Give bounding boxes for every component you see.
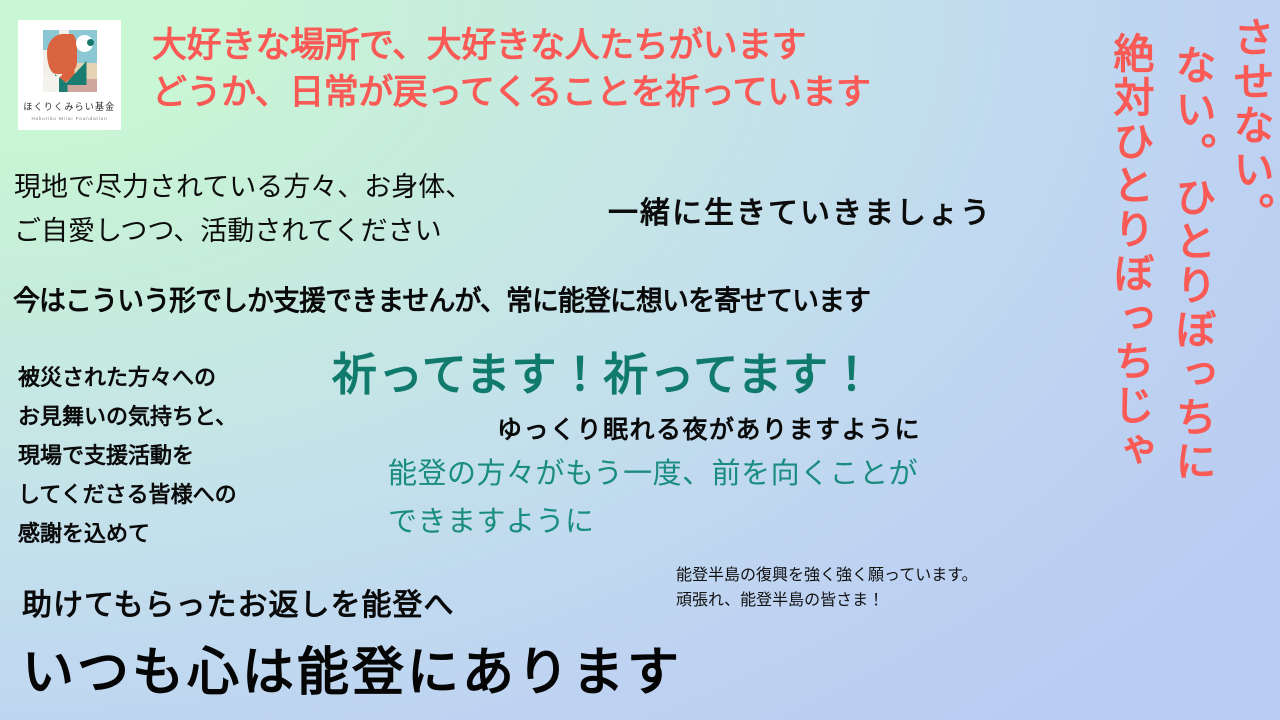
message-fukkou: 能登半島の復興を強く強く願っています。 頑張れ、能登半島の皆さま！ (676, 563, 978, 613)
vertical-column-left: させない。 (1228, 16, 1272, 236)
poster-canvas: ほくりくみらい基金 Hokuriku Mirai Foundation 大好きな… (0, 0, 1280, 720)
message-itsumo: いつも心は能登にあります (22, 630, 682, 705)
vertical-column-right: 絶対ひとりぼっちじゃ (1108, 32, 1152, 472)
message-hisai: 被災された方々への お見舞いの気持ちと、 現場で支援活動を してくださる皆様への… (18, 358, 237, 553)
message-yukkuri: ゆっくり眠れる夜がありますように (497, 410, 921, 446)
logo-name-en: Hokuriku Mirai Foundation (31, 116, 107, 121)
vertical-column-middle: ない。ひとりぼっちに (1170, 44, 1214, 484)
logo-artwork-icon (43, 30, 97, 92)
foundation-logo: ほくりくみらい基金 Hokuriku Mirai Foundation (18, 20, 121, 130)
message-ima: 今はこういう形でしか支援できませんが、常に能登に想いを寄せています (13, 279, 870, 319)
message-inotte: 祈ってます！祈ってます！ (332, 338, 875, 403)
message-tasukete: 助けてもらったお返しを能登へ (22, 580, 455, 624)
logo-name-ja: ほくりくみらい基金 (24, 99, 116, 113)
message-issho: 一緒に生きていきましょう (608, 188, 992, 232)
message-genchi: 現地で尽力されている方々、お身体、 ご自愛しつつ、活動されてください (14, 165, 472, 253)
message-noto-mukau: 能登の方々がもう一度、前を向くことが できますように (388, 450, 918, 546)
headline-text: 大好きな場所で、大好きな人たちがいます どうか、日常が戻ってくることを祈っていま… (152, 22, 871, 116)
